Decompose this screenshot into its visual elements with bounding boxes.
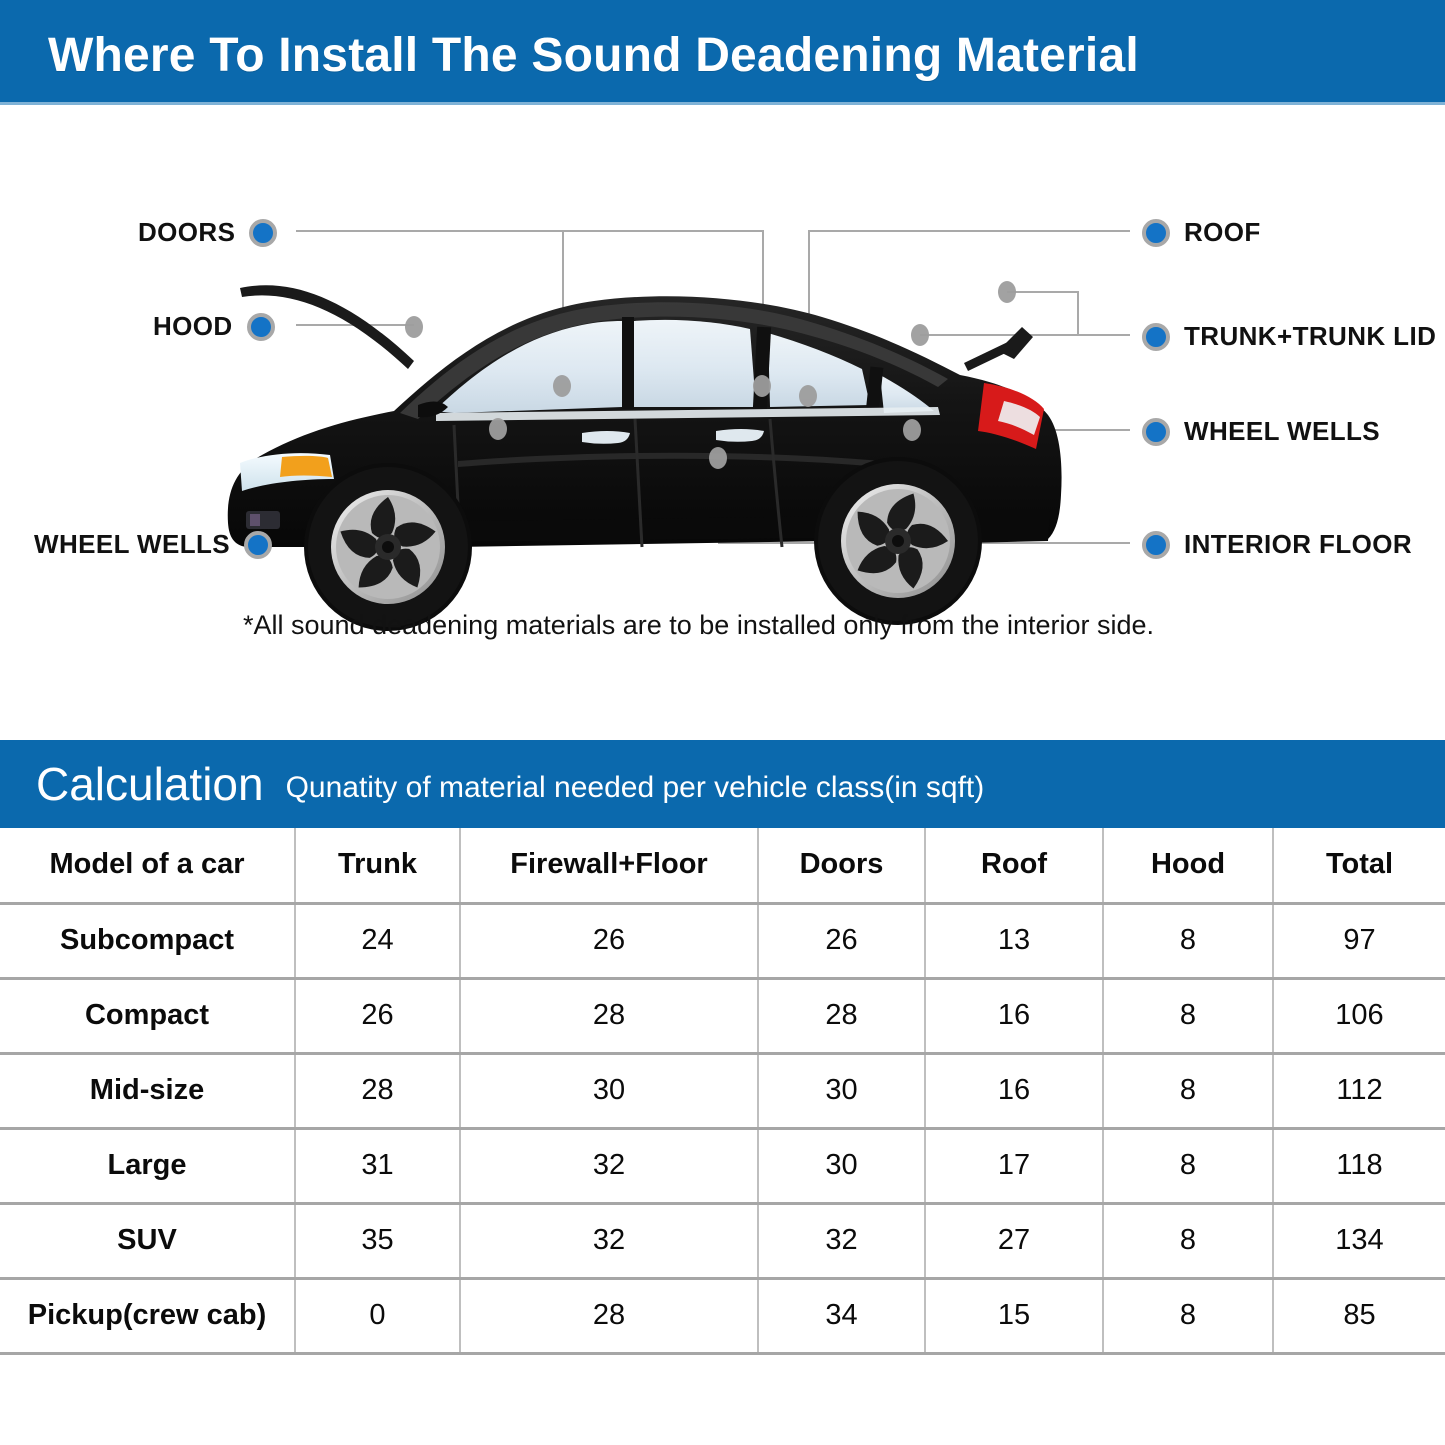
- anchor-door-rear: [753, 375, 771, 397]
- table-row: SUV 35 32 32 27 8 134: [0, 1203, 1445, 1278]
- cell-model: Pickup(crew cab): [0, 1278, 295, 1353]
- anchor-hood: [405, 316, 423, 338]
- table-row: Subcompact 24 26 26 13 8 97: [0, 903, 1445, 978]
- page-banner: Where To Install The Sound Deadening Mat…: [0, 0, 1445, 105]
- callout-hood-bullet-icon: [247, 313, 275, 341]
- callout-hood[interactable]: HOOD: [153, 311, 275, 342]
- cell-trunk: 31: [295, 1128, 460, 1203]
- cell-total: 85: [1273, 1278, 1445, 1353]
- col-header-doors: Doors: [758, 828, 925, 903]
- install-diagram: DOORS HOOD WHEEL WELLS ROOF TRUNK+TRUNK …: [0, 105, 1445, 730]
- callout-interior-floor[interactable]: INTERIOR FLOOR: [1142, 529, 1412, 560]
- callout-trunk-bullet-icon: [1142, 323, 1170, 351]
- cell-model: SUV: [0, 1203, 295, 1278]
- cell-doors: 34: [758, 1278, 925, 1353]
- calculation-band: Calculation Qunatity of material needed …: [0, 740, 1445, 828]
- cell-roof: 15: [925, 1278, 1103, 1353]
- col-header-roof: Roof: [925, 828, 1103, 903]
- calculation-table: Model of a car Trunk Firewall+Floor Door…: [0, 828, 1445, 1355]
- col-header-hood: Hood: [1103, 828, 1273, 903]
- leader-roof-horizontal: [808, 230, 1130, 232]
- cell-hood: 8: [1103, 903, 1273, 978]
- cell-doors: 30: [758, 1128, 925, 1203]
- cell-roof: 13: [925, 903, 1103, 978]
- calculation-table-wrapper: Model of a car Trunk Firewall+Floor Door…: [0, 828, 1445, 1355]
- col-header-firewall-floor: Firewall+Floor: [460, 828, 758, 903]
- callout-wheel-wells-left[interactable]: WHEEL WELLS: [34, 529, 272, 560]
- table-row: Large 31 32 30 17 8 118: [0, 1128, 1445, 1203]
- cell-model: Large: [0, 1128, 295, 1203]
- cell-total: 97: [1273, 903, 1445, 978]
- callout-roof[interactable]: ROOF: [1142, 217, 1261, 248]
- cell-roof: 16: [925, 1053, 1103, 1128]
- cell-model: Compact: [0, 978, 295, 1053]
- cell-trunk: 28: [295, 1053, 460, 1128]
- cell-hood: 8: [1103, 1203, 1273, 1278]
- cell-doors: 32: [758, 1203, 925, 1278]
- table-header-row: Model of a car Trunk Firewall+Floor Door…: [0, 828, 1445, 903]
- cell-hood: 8: [1103, 1053, 1273, 1128]
- anchor-sill-rear: [709, 447, 727, 469]
- table-row: Compact 26 28 28 16 8 106: [0, 978, 1445, 1053]
- cell-doors: 30: [758, 1053, 925, 1128]
- callout-doors[interactable]: DOORS: [138, 217, 277, 248]
- leader-trunk-horizontal: [1077, 334, 1130, 336]
- anchor-wheel-well-rear: [903, 419, 921, 441]
- callout-wheel-wells-right-bullet-icon: [1142, 418, 1170, 446]
- callout-wheel-wells-right[interactable]: WHEEL WELLS: [1142, 416, 1380, 447]
- anchor-door-front: [553, 375, 571, 397]
- diagram-footnote: *All sound deadening materials are to be…: [243, 610, 1154, 641]
- leader-trunk-vertical: [1077, 291, 1079, 336]
- callout-doors-bullet-icon: [249, 219, 277, 247]
- table-row: Mid-size 28 30 30 16 8 112: [0, 1053, 1445, 1128]
- anchor-sill-front: [489, 418, 507, 440]
- callout-wheel-wells-left-label: WHEEL WELLS: [34, 529, 230, 560]
- calculation-title: Calculation: [36, 761, 264, 807]
- cell-hood: 8: [1103, 978, 1273, 1053]
- cell-roof: 16: [925, 978, 1103, 1053]
- col-header-total: Total: [1273, 828, 1445, 903]
- cell-firewall-floor: 28: [460, 1278, 758, 1353]
- cell-trunk: 0: [295, 1278, 460, 1353]
- callout-interior-floor-bullet-icon: [1142, 531, 1170, 559]
- cell-doors: 26: [758, 903, 925, 978]
- calculation-subtitle: Qunatity of material needed per vehicle …: [286, 771, 985, 805]
- page-title: Where To Install The Sound Deadening Mat…: [48, 28, 1139, 83]
- cell-firewall-floor: 32: [460, 1128, 758, 1203]
- callout-roof-label: ROOF: [1184, 217, 1261, 248]
- cell-trunk: 26: [295, 978, 460, 1053]
- cell-hood: 8: [1103, 1278, 1273, 1353]
- callout-interior-floor-label: INTERIOR FLOOR: [1184, 529, 1412, 560]
- cell-total: 106: [1273, 978, 1445, 1053]
- cell-firewall-floor: 28: [460, 978, 758, 1053]
- anchor-trunk-lid: [998, 281, 1016, 303]
- callout-doors-label: DOORS: [138, 217, 235, 248]
- cell-firewall-floor: 32: [460, 1203, 758, 1278]
- callout-wheel-wells-right-label: WHEEL WELLS: [1184, 416, 1380, 447]
- cell-doors: 28: [758, 978, 925, 1053]
- cell-model: Subcompact: [0, 903, 295, 978]
- col-header-trunk: Trunk: [295, 828, 460, 903]
- callout-wheel-wells-left-bullet-icon: [244, 531, 272, 559]
- car-illustration: [222, 255, 1067, 645]
- table-row: Pickup(crew cab) 0 28 34 15 8 85: [0, 1278, 1445, 1353]
- leader-doors-horizontal: [296, 230, 764, 232]
- callout-trunk[interactable]: TRUNK+TRUNK LID: [1142, 321, 1436, 352]
- cell-total: 112: [1273, 1053, 1445, 1128]
- callout-roof-bullet-icon: [1142, 219, 1170, 247]
- cell-total: 134: [1273, 1203, 1445, 1278]
- cell-trunk: 35: [295, 1203, 460, 1278]
- anchor-trunk-body: [911, 324, 929, 346]
- cell-model: Mid-size: [0, 1053, 295, 1128]
- cell-roof: 17: [925, 1128, 1103, 1203]
- cell-total: 118: [1273, 1128, 1445, 1203]
- cell-firewall-floor: 26: [460, 903, 758, 978]
- cell-trunk: 24: [295, 903, 460, 978]
- callout-hood-label: HOOD: [153, 311, 233, 342]
- col-header-model: Model of a car: [0, 828, 295, 903]
- anchor-roof: [799, 385, 817, 407]
- cell-firewall-floor: 30: [460, 1053, 758, 1128]
- cell-hood: 8: [1103, 1128, 1273, 1203]
- callout-trunk-label: TRUNK+TRUNK LID: [1184, 321, 1436, 352]
- cell-roof: 27: [925, 1203, 1103, 1278]
